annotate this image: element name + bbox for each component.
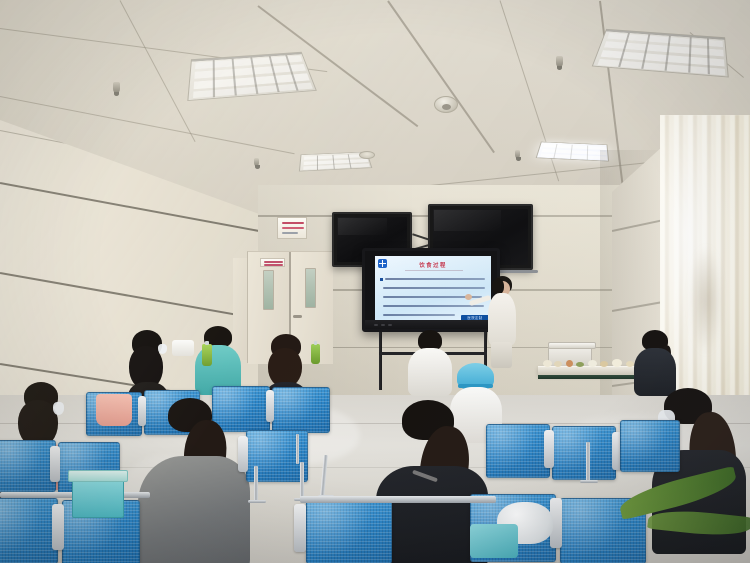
chair-seatback[interactable]	[552, 426, 616, 480]
slide-title: 饮食过程	[375, 261, 491, 269]
chair-armrest	[52, 504, 64, 550]
chair-armrest	[544, 430, 554, 468]
recessed-louver-light	[536, 142, 609, 162]
face-mask	[158, 344, 167, 354]
food-sample	[626, 361, 634, 367]
chair-armrest	[266, 390, 274, 422]
water-bottle	[202, 344, 212, 366]
food-sample	[566, 360, 573, 367]
door-vision-panel-right	[305, 268, 316, 308]
recessed-louver-light	[592, 29, 729, 78]
slide-title-underline	[405, 270, 463, 271]
storage-tub	[72, 478, 124, 518]
storage-tub-lid	[68, 470, 128, 482]
presenter-coat	[488, 293, 516, 345]
food-sample	[543, 360, 552, 367]
chair-seatback[interactable]	[272, 387, 330, 433]
presenter-hair-back	[492, 278, 504, 294]
pink-jacket-on-seatback	[96, 394, 132, 426]
chair-seatback[interactable]	[620, 420, 680, 472]
board-bezel-bottom	[365, 320, 497, 329]
chair-leg	[300, 462, 304, 500]
fire-sprinkler-head	[113, 82, 120, 93]
chair-armrest	[238, 436, 248, 472]
tv-screen-reflection	[434, 210, 501, 231]
door-warning-sign	[260, 258, 285, 267]
door-handle[interactable]	[293, 315, 302, 318]
torso	[634, 348, 676, 396]
ceiling-vent-round	[359, 151, 375, 159]
tv-screen-reflection	[338, 218, 387, 235]
chair-armrest	[50, 446, 60, 482]
white-bag	[172, 340, 194, 356]
slide-text-line	[383, 305, 484, 307]
grey-shawl	[138, 456, 250, 563]
presentation-slide: 饮食过程 医院定制	[375, 256, 491, 323]
food-sample	[576, 362, 584, 367]
slide-text-line	[385, 278, 485, 280]
teal-fabric	[470, 524, 518, 558]
recessed-louver-light	[187, 52, 317, 101]
chair-seatback[interactable]	[306, 500, 392, 563]
wall-side-panel	[233, 258, 248, 360]
wall-notice-sign	[277, 217, 307, 239]
food-sample	[588, 360, 597, 367]
chair-frame-beam	[300, 496, 496, 503]
chair-leg	[296, 434, 299, 464]
door-vision-panel-left	[263, 270, 274, 310]
slide-bullet-marker	[380, 278, 383, 281]
chair-leg	[254, 466, 258, 502]
photo-canvas: TV 饮食过程 医院定制	[0, 0, 750, 563]
face-mask	[53, 402, 64, 415]
slide-text-line	[383, 287, 485, 289]
chair-seatback[interactable]	[486, 424, 550, 478]
chair-foot	[580, 480, 598, 483]
presenter-legs	[491, 342, 512, 368]
food-sample	[600, 361, 608, 367]
chair-foot	[248, 500, 266, 503]
curtain-shadow-figure	[690, 245, 722, 355]
chair-seatback[interactable]	[0, 498, 58, 563]
fire-sprinkler-head	[556, 56, 563, 67]
board-input-button[interactable]	[388, 324, 392, 326]
board-power-button[interactable]	[374, 324, 378, 326]
chair-armrest	[138, 396, 146, 426]
food-sample	[612, 359, 622, 367]
board-menu-button[interactable]	[381, 324, 385, 326]
torso	[408, 348, 452, 396]
presenter-hand	[465, 294, 472, 300]
water-bottle	[311, 344, 320, 364]
fire-sprinkler-head	[515, 150, 520, 158]
interactive-whiteboard[interactable]: 饮食过程 医院定制	[362, 248, 500, 332]
chair-seatback[interactable]	[0, 440, 56, 492]
board-stand-leg-left	[379, 332, 382, 390]
smoke-detector	[434, 96, 458, 113]
chair-seatback[interactable]	[212, 386, 270, 432]
chair-leg	[586, 442, 590, 482]
slide-text-line	[383, 314, 455, 316]
food-sample	[554, 361, 562, 367]
fire-sprinkler-head	[254, 158, 259, 166]
chair-armrest	[294, 504, 306, 552]
